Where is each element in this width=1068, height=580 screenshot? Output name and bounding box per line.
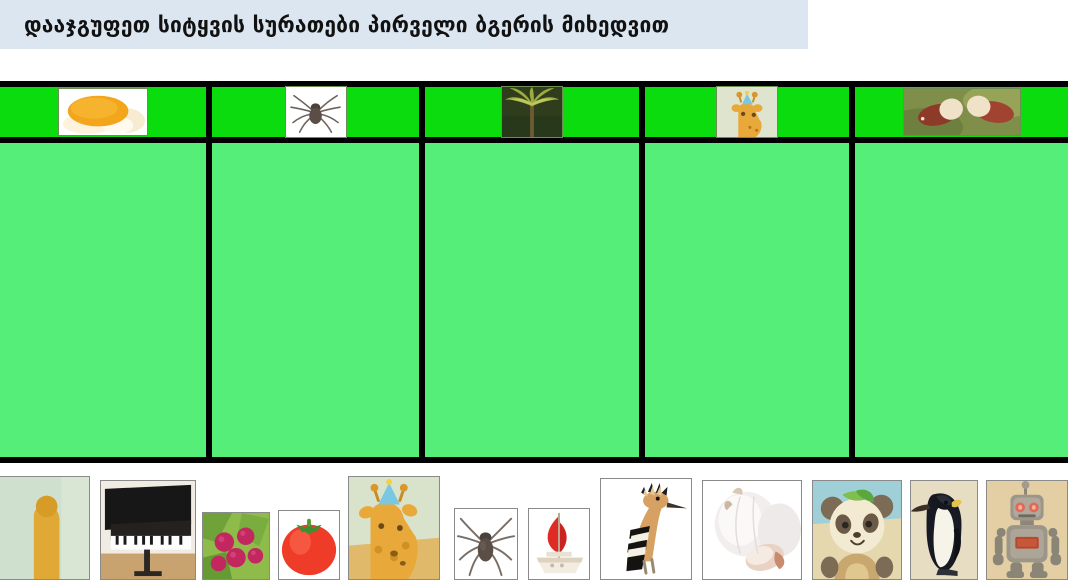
tray-item-panda[interactable] bbox=[812, 480, 902, 580]
picture-tray bbox=[0, 476, 1068, 580]
sorting-grid bbox=[0, 81, 1068, 463]
dropzone-column-egg[interactable] bbox=[0, 143, 212, 457]
tray-item-robot[interactable] bbox=[986, 480, 1068, 580]
tray-item-giraffe-b[interactable] bbox=[348, 476, 440, 580]
giraffe-icon bbox=[716, 86, 778, 138]
tray-item-sailboat[interactable] bbox=[528, 508, 590, 580]
hoopoe-icon bbox=[601, 479, 691, 579]
sailboat-icon bbox=[529, 509, 589, 579]
dropzone-column-palm-tree[interactable] bbox=[425, 143, 645, 457]
spider-icon bbox=[285, 86, 347, 138]
penguin-icon bbox=[911, 481, 977, 579]
acorn-icon bbox=[903, 88, 1021, 136]
title-banner: დააჯგუფეთ სიტყვის სურათები პირველი ბგერი… bbox=[0, 0, 808, 49]
spider-icon bbox=[455, 509, 517, 579]
page-title: დააჯგუფეთ სიტყვის სურათები პირველი ბგერი… bbox=[0, 13, 669, 37]
palm-tree-icon bbox=[501, 86, 563, 138]
dropzone-column-spider[interactable] bbox=[212, 143, 425, 457]
raspberry-icon bbox=[203, 513, 269, 579]
dropzone-column-acorn[interactable] bbox=[855, 143, 1068, 457]
giraffe-icon bbox=[0, 477, 89, 579]
tray-item-raspberry[interactable] bbox=[202, 512, 270, 580]
panda-icon bbox=[813, 481, 901, 579]
grid-header-row bbox=[0, 87, 1068, 143]
robot-icon bbox=[987, 481, 1067, 579]
piano-icon bbox=[101, 481, 195, 579]
tray-item-tomato[interactable] bbox=[278, 510, 340, 580]
tomato-icon bbox=[279, 511, 339, 579]
grid-header-cell-egg[interactable] bbox=[0, 87, 212, 137]
dropzone-column-giraffe[interactable] bbox=[645, 143, 855, 457]
egg-icon bbox=[58, 88, 148, 136]
tray-item-penguin[interactable] bbox=[910, 480, 978, 580]
grid-header-cell-spider[interactable] bbox=[212, 87, 425, 137]
garlic-icon bbox=[703, 481, 801, 579]
grid-header-cell-palm-tree[interactable] bbox=[425, 87, 645, 137]
giraffe-icon bbox=[349, 477, 439, 579]
tray-item-hoopoe[interactable] bbox=[600, 478, 692, 580]
tray-item-spider[interactable] bbox=[454, 508, 518, 580]
tray-item-garlic[interactable] bbox=[702, 480, 802, 580]
grid-header-cell-acorn[interactable] bbox=[855, 87, 1068, 137]
grid-dropzone-row bbox=[0, 143, 1068, 457]
tray-item-giraffe-a[interactable] bbox=[0, 476, 90, 580]
tray-item-piano[interactable] bbox=[100, 480, 196, 580]
grid-header-cell-giraffe[interactable] bbox=[645, 87, 855, 137]
